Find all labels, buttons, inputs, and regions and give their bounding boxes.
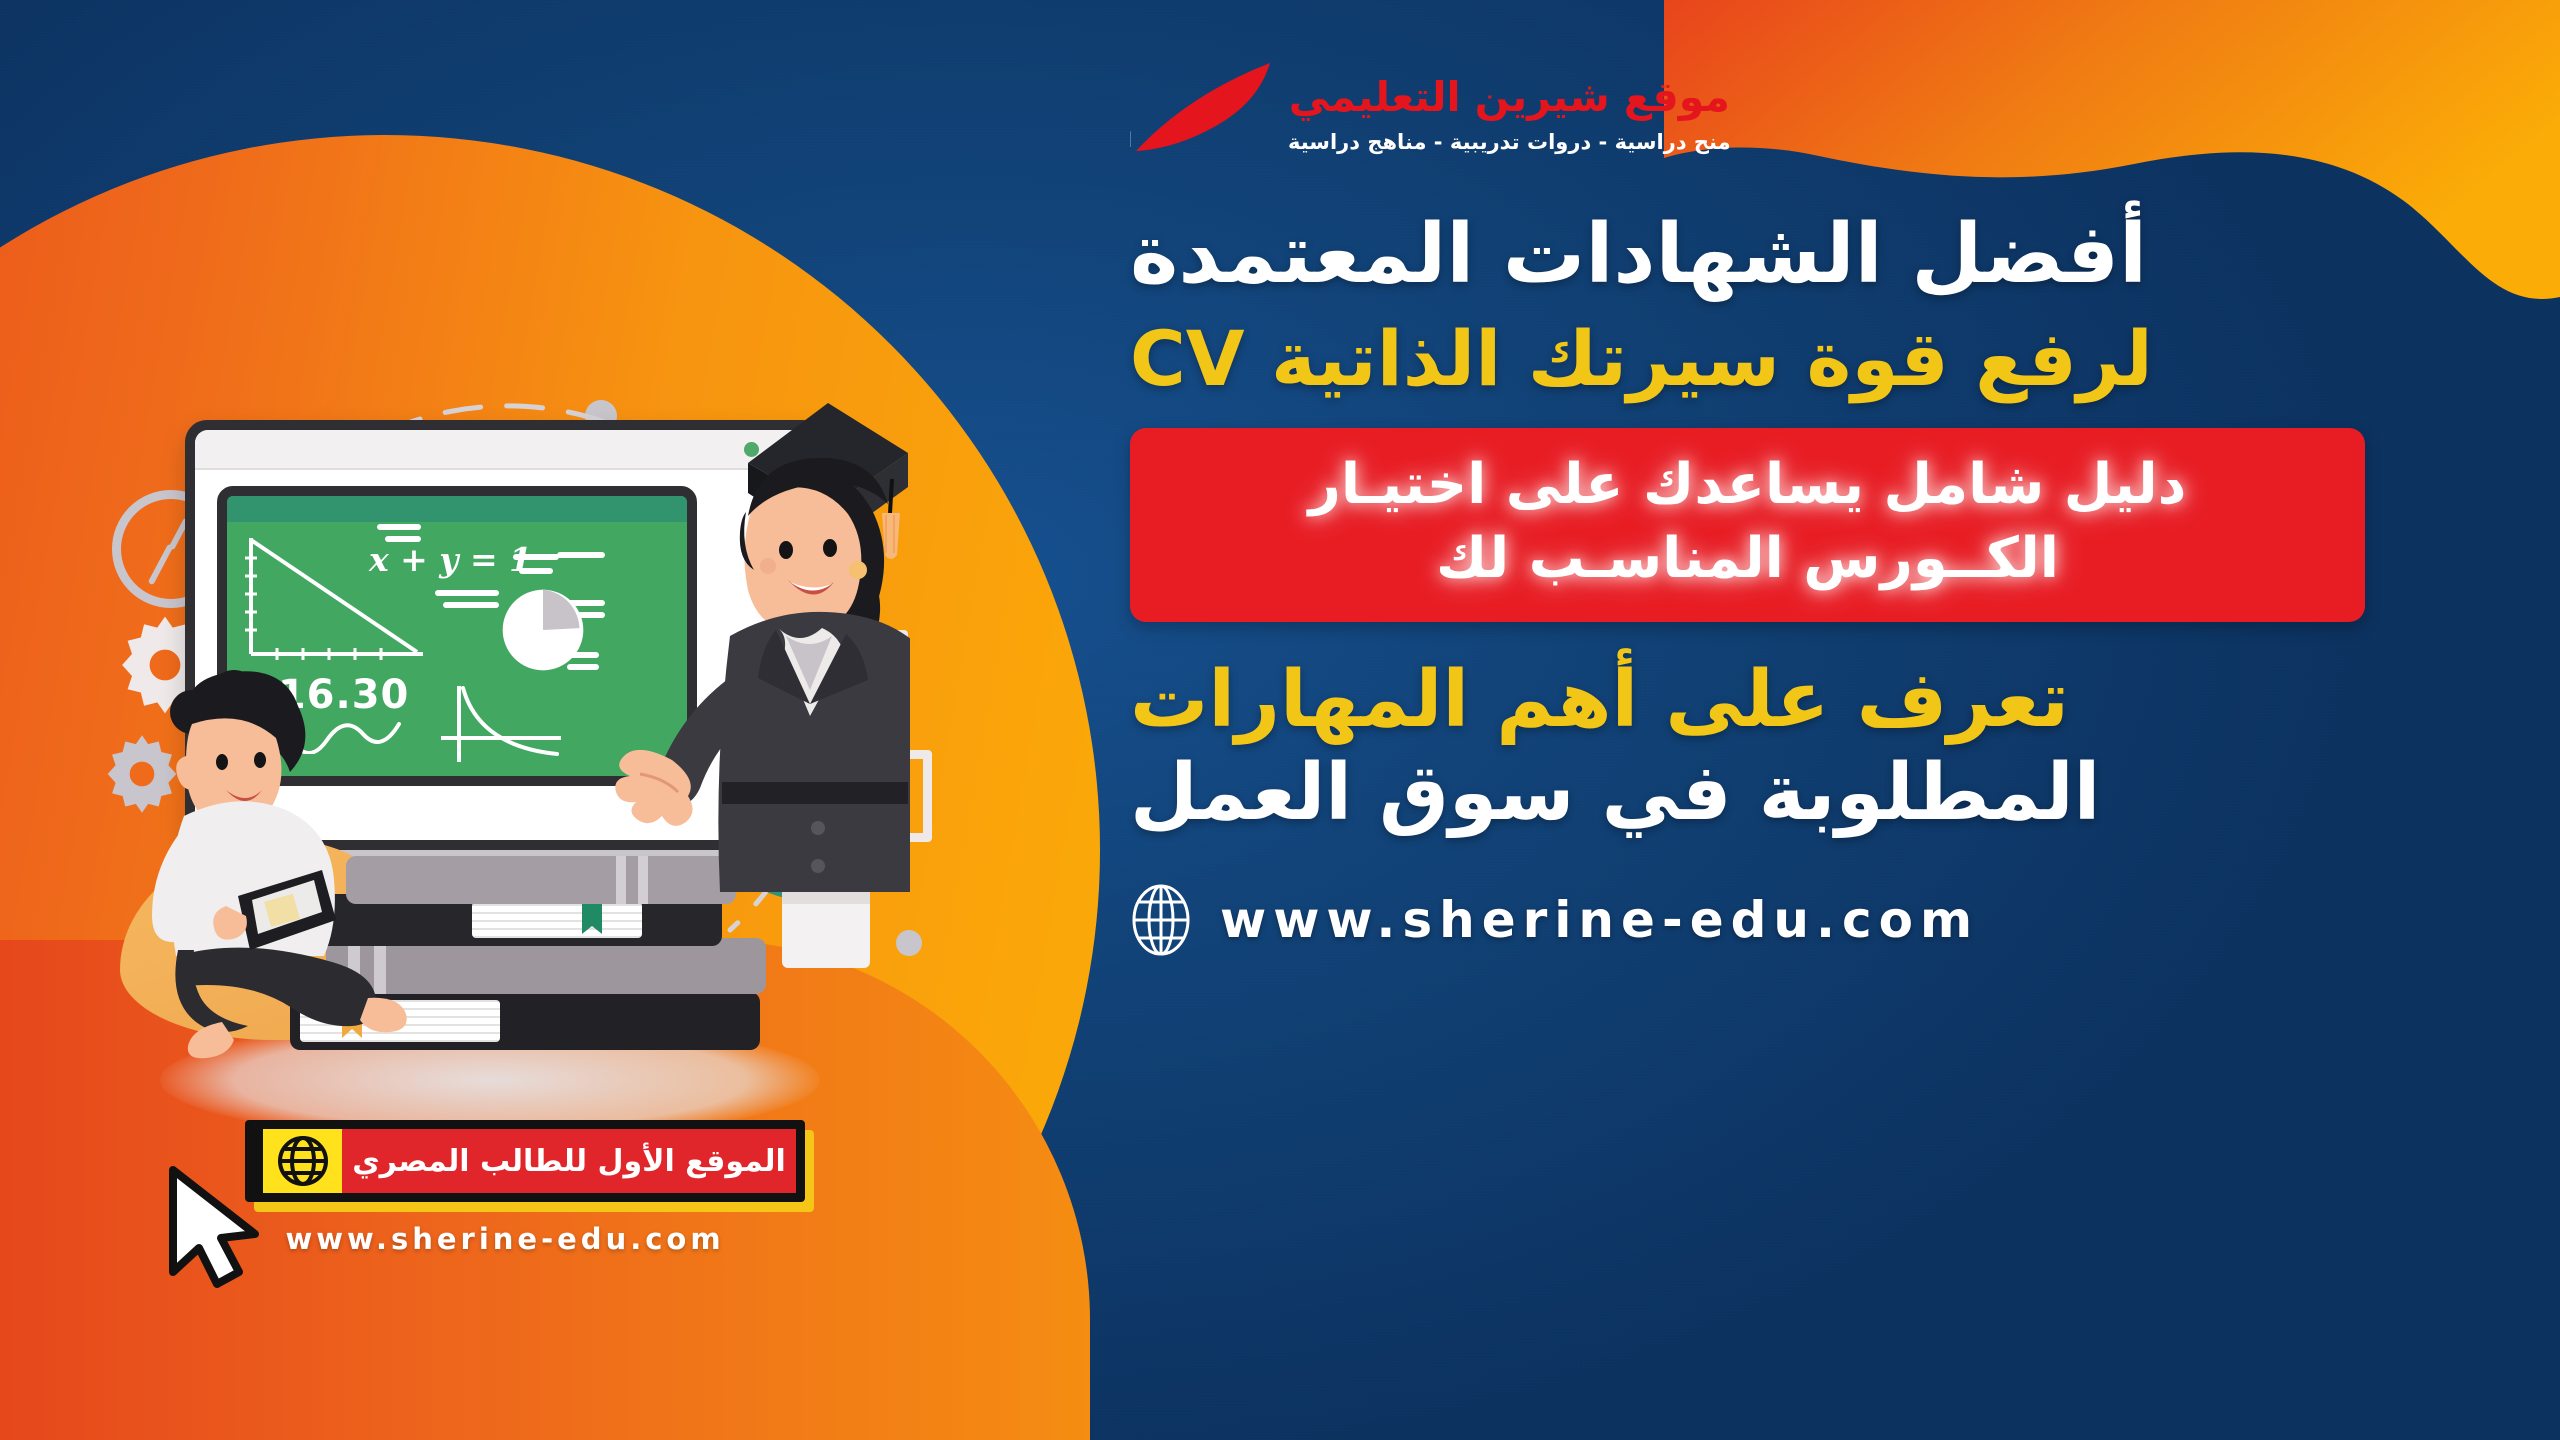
pie-chart xyxy=(495,582,591,678)
student-figure xyxy=(130,650,470,1070)
logo-arabic-name: موقع شيرين التعليمي xyxy=(1288,76,1731,119)
headline-primary: أفضل الشهادات المعتمدة xyxy=(1130,209,2147,301)
logo-monogram: SE xyxy=(1130,55,1280,175)
red-callout-banner: دليل شامل يساعدك على اختيـار الكــورس ال… xyxy=(1130,428,2365,622)
headline-quaternary: المطلوبة في سوق العمل xyxy=(1130,749,2100,838)
badge-globe-icon xyxy=(254,1129,342,1193)
bookmark-green xyxy=(582,902,602,942)
teacher-figure xyxy=(580,430,910,900)
globe-icon xyxy=(1130,882,1192,958)
promotional-banner: x + y = 1 xyxy=(0,0,2560,1440)
headline-secondary: لرفع قوة سيرتك الذاتية CV xyxy=(1130,315,2153,402)
footer-website[interactable]: www.sherine-edu.com xyxy=(1130,882,1979,958)
logo-monogram-text: SE xyxy=(1130,58,1138,170)
footer-url-text[interactable]: www.sherine-edu.com xyxy=(1220,891,1979,949)
badge-label: الموقع الأول للطالب المصري xyxy=(342,1129,796,1193)
logo-tagline: منح دراسية - دروات تدريبية - مناهج دراسي… xyxy=(1288,130,1731,154)
board-equation: x + y = 1 xyxy=(369,540,532,579)
content-column: موقع شيرين التعليمي منح دراسية - دروات ت… xyxy=(1090,0,2560,1440)
headline-tertiary: تعرف على أهم المهارات xyxy=(1130,656,2069,745)
red-banner-line-2: الكــورس المناسـب لك xyxy=(1170,522,2325,596)
red-banner-line-1: دليل شامل يساعدك على اختيـار xyxy=(1170,448,2325,522)
cursor-arrow-icon xyxy=(161,1164,267,1288)
brand-logo[interactable]: موقع شيرين التعليمي منح دراسية - دروات ت… xyxy=(1130,55,1731,175)
badge-url[interactable]: www.sherine-edu.com xyxy=(205,1222,805,1256)
site-badge[interactable]: الموقع الأول للطالب المصري www.sherine-e… xyxy=(205,1120,805,1256)
